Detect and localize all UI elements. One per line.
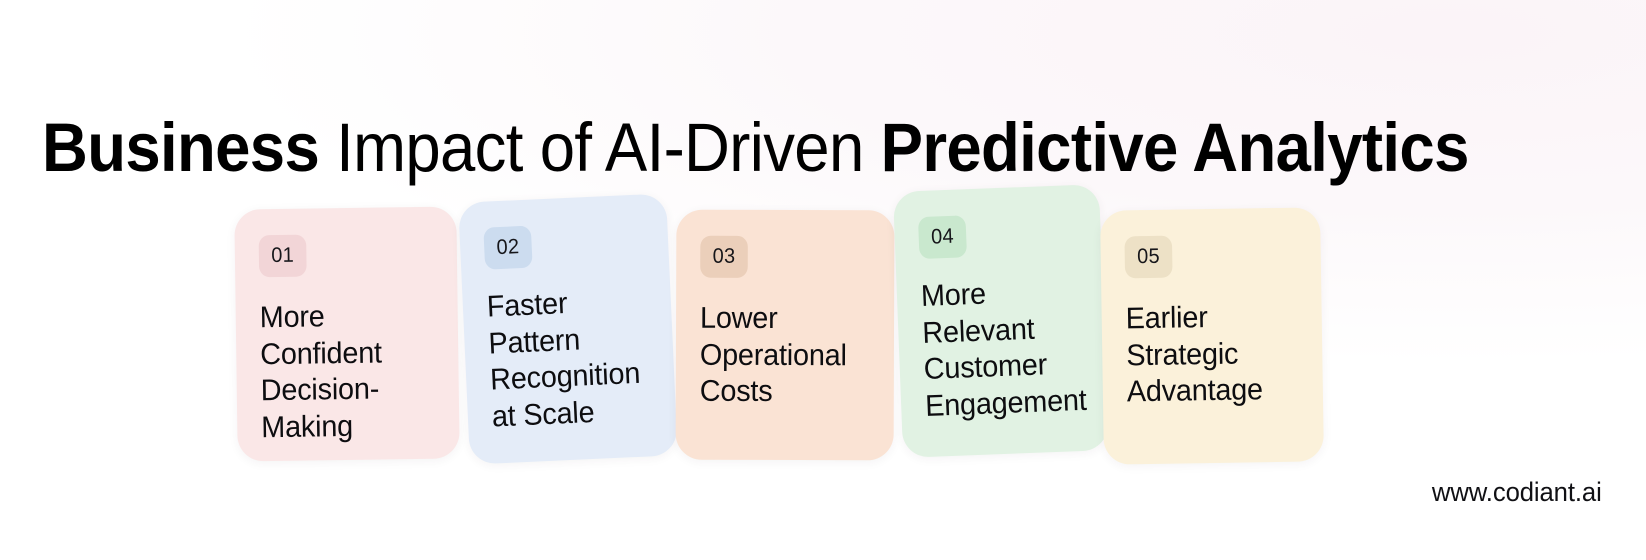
benefit-card-05[interactable]: 05 Earlier Strategic Advantage [1100, 207, 1324, 464]
card-label: Lower Operational Costs [700, 301, 866, 411]
card-number-badge: 05 [1124, 236, 1172, 279]
card-number-badge: 04 [918, 215, 967, 259]
card-label: More Relevant Customer Engagement [920, 273, 1079, 425]
card-number-badge: 01 [259, 235, 307, 278]
benefit-card-04[interactable]: 04 More Relevant Customer Engagement [893, 184, 1109, 458]
card-label: Faster Pattern Recognition at Scale [486, 283, 648, 436]
card-label: Earlier Strategic Advantage [1125, 299, 1294, 411]
benefit-cards-row: 01 More Confident Decision-Making 02 Fas… [0, 0, 1646, 560]
card-label: More Confident Decision-Making [260, 298, 431, 446]
benefit-card-03[interactable]: 03 Lower Operational Costs [676, 210, 895, 461]
card-number-badge: 02 [483, 226, 532, 270]
card-number-badge: 03 [700, 236, 748, 278]
benefit-card-01[interactable]: 01 More Confident Decision-Making [234, 206, 459, 461]
footer-website-url[interactable]: www.codiant.ai [1432, 476, 1602, 508]
infographic-poster: Business Impact of AI-Driven Predictive … [0, 0, 1646, 560]
benefit-card-02[interactable]: 02 Faster Pattern Recognition at Scale [458, 193, 678, 464]
